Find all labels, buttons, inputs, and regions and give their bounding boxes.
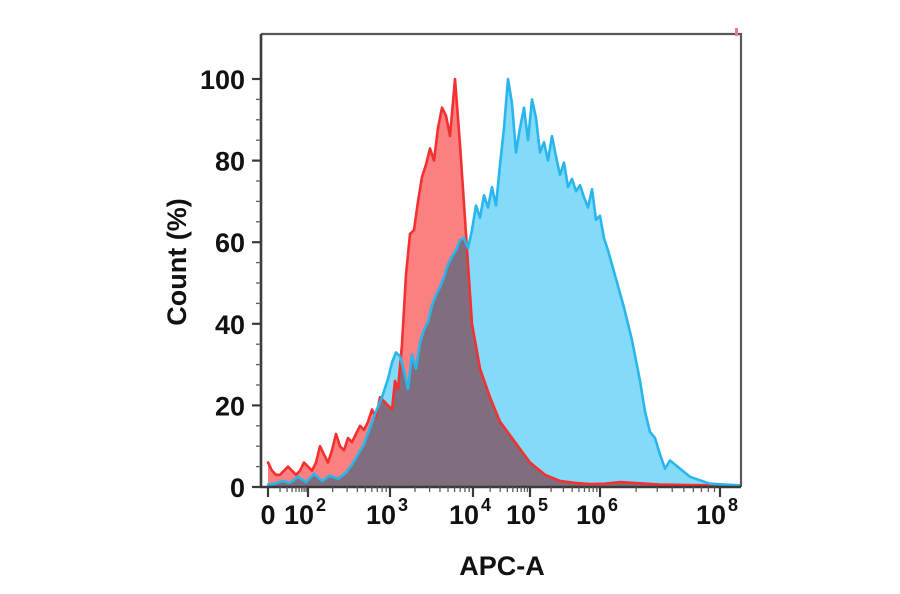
y-axis-title: Count (%) bbox=[162, 198, 192, 325]
y-tick-label: 60 bbox=[215, 228, 245, 258]
y-tick-label: 0 bbox=[230, 473, 245, 503]
x-tick-label: 106 bbox=[576, 495, 618, 530]
svg-text:10: 10 bbox=[366, 500, 396, 530]
svg-text:0: 0 bbox=[260, 500, 275, 530]
y-tick-label: 80 bbox=[215, 147, 245, 177]
svg-text:5: 5 bbox=[538, 495, 548, 515]
x-tick-label: 102 bbox=[284, 495, 326, 530]
svg-text:2: 2 bbox=[316, 495, 326, 515]
x-axis-title: APC-A bbox=[459, 551, 545, 581]
y-tick-label: 100 bbox=[200, 65, 245, 95]
x-tick-label-group: 0102103104105106108 bbox=[260, 495, 738, 530]
x-tick-label: 0 bbox=[260, 500, 275, 530]
x-tick-label: 103 bbox=[366, 495, 408, 530]
flow-cytometry-histogram: 020406080100 0102103104105106108 APC-A C… bbox=[0, 0, 900, 594]
x-tick-label: 104 bbox=[449, 495, 491, 530]
svg-text:10: 10 bbox=[506, 500, 536, 530]
corner-artifact bbox=[735, 28, 738, 36]
svg-text:10: 10 bbox=[449, 500, 479, 530]
y-tick-label-group: 020406080100 bbox=[200, 65, 245, 503]
x-tick-label: 105 bbox=[506, 495, 548, 530]
artifact-mark bbox=[735, 28, 738, 36]
svg-text:10: 10 bbox=[696, 500, 726, 530]
y-tick-label: 20 bbox=[215, 391, 245, 421]
svg-text:6: 6 bbox=[608, 495, 618, 515]
svg-text:10: 10 bbox=[576, 500, 606, 530]
svg-text:10: 10 bbox=[284, 500, 314, 530]
svg-text:3: 3 bbox=[398, 495, 408, 515]
x-tick-group bbox=[268, 487, 720, 497]
x-tick-label: 108 bbox=[696, 495, 738, 530]
y-tick-label: 40 bbox=[215, 310, 245, 340]
svg-text:8: 8 bbox=[728, 495, 738, 515]
figure-canvas: 020406080100 0102103104105106108 APC-A C… bbox=[0, 0, 900, 594]
y-tick-group bbox=[252, 79, 261, 487]
svg-text:4: 4 bbox=[481, 495, 491, 515]
